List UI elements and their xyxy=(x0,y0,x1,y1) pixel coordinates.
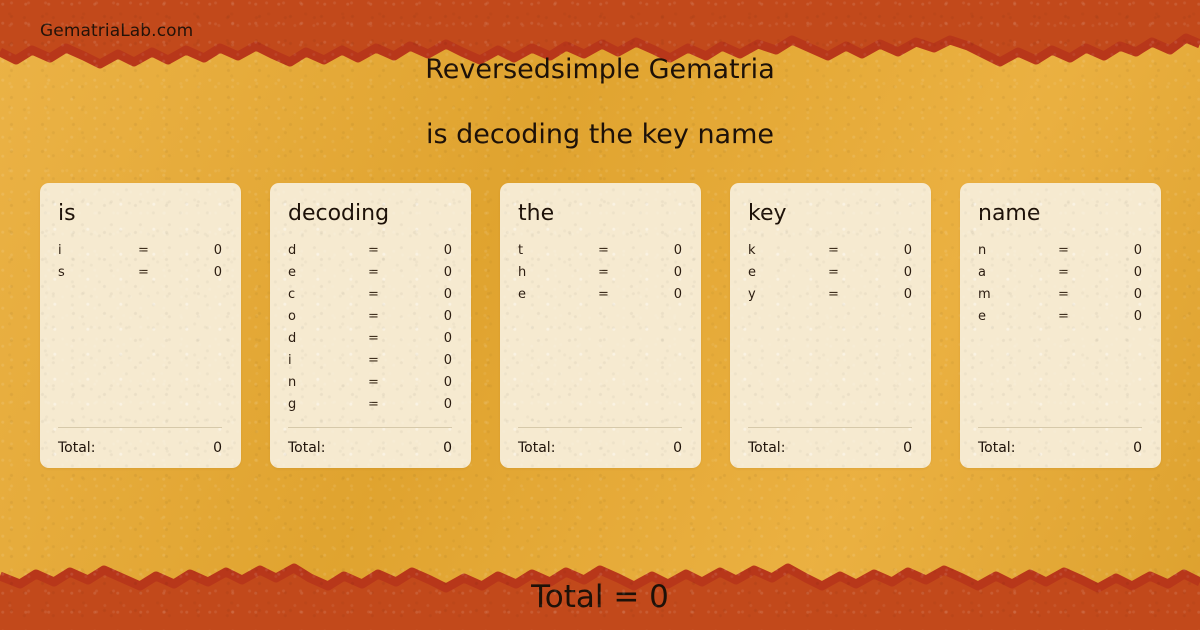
letter-value-list: t=0h=0e=0 xyxy=(518,243,682,427)
letter-value: 0 xyxy=(412,375,452,390)
letter-row: e=0 xyxy=(518,287,682,309)
letter-char: o xyxy=(288,309,368,324)
card-total-value: 0 xyxy=(1133,440,1142,456)
card-total-row: Total:0 xyxy=(58,428,222,468)
letter-row: k=0 xyxy=(748,243,912,265)
letter-row: a=0 xyxy=(978,265,1142,287)
letter-value: 0 xyxy=(1102,309,1142,324)
letter-row: e=0 xyxy=(748,265,912,287)
letter-row: d=0 xyxy=(288,331,452,353)
letter-char: i xyxy=(288,353,368,368)
word-card: isi=0s=0Total:0 xyxy=(40,183,241,468)
letter-char: g xyxy=(288,397,368,412)
letter-row: t=0 xyxy=(518,243,682,265)
letter-value: 0 xyxy=(642,265,682,280)
letter-value: 0 xyxy=(642,287,682,302)
letter-row: m=0 xyxy=(978,287,1142,309)
letter-value: 0 xyxy=(1102,243,1142,258)
equals-sign: = xyxy=(828,287,872,302)
equals-sign: = xyxy=(368,265,412,280)
letter-row: c=0 xyxy=(288,287,452,309)
equals-sign: = xyxy=(1058,243,1102,258)
equals-sign: = xyxy=(598,243,642,258)
card-total-value: 0 xyxy=(213,440,222,456)
letter-value: 0 xyxy=(1102,265,1142,280)
equals-sign: = xyxy=(598,287,642,302)
equals-sign: = xyxy=(1058,265,1102,280)
letter-value: 0 xyxy=(412,265,452,280)
letter-row: o=0 xyxy=(288,309,452,331)
letter-row: i=0 xyxy=(288,353,452,375)
letter-char: e xyxy=(748,265,828,280)
letter-char: e xyxy=(978,309,1058,324)
letter-row: s=0 xyxy=(58,265,222,287)
letter-char: d xyxy=(288,243,368,258)
letter-row: g=0 xyxy=(288,397,452,419)
word-card-title: is xyxy=(58,203,222,225)
letter-char: y xyxy=(748,287,828,302)
letter-char: n xyxy=(288,375,368,390)
letter-char: a xyxy=(978,265,1058,280)
word-card-list: isi=0s=0Total:0decodingd=0e=0c=0o=0d=0i=… xyxy=(40,183,1161,468)
word-card: namen=0a=0m=0e=0Total:0 xyxy=(960,183,1161,468)
equals-sign: = xyxy=(1058,309,1102,324)
letter-row: n=0 xyxy=(288,375,452,397)
grand-total: Total = 0 xyxy=(0,579,1200,615)
card-total-value: 0 xyxy=(673,440,682,456)
word-card-title: the xyxy=(518,203,682,225)
letter-char: h xyxy=(518,265,598,280)
letter-value: 0 xyxy=(642,243,682,258)
header-block: Reversedsimple Gematria is decoding the … xyxy=(0,56,1200,148)
equals-sign: = xyxy=(368,309,412,324)
letter-value: 0 xyxy=(412,397,452,412)
letter-char: d xyxy=(288,331,368,346)
letter-char: m xyxy=(978,287,1058,302)
word-card: decodingd=0e=0c=0o=0d=0i=0n=0g=0Total:0 xyxy=(270,183,471,468)
letter-value: 0 xyxy=(872,265,912,280)
letter-value: 0 xyxy=(412,243,452,258)
word-card-title: name xyxy=(978,203,1142,225)
letter-row: d=0 xyxy=(288,243,452,265)
equals-sign: = xyxy=(828,265,872,280)
page-title: Reversedsimple Gematria xyxy=(0,56,1200,83)
letter-char: i xyxy=(58,243,138,258)
equals-sign: = xyxy=(138,243,182,258)
page-subtitle: is decoding the key name xyxy=(0,121,1200,148)
card-total-value: 0 xyxy=(903,440,912,456)
letter-char: e xyxy=(288,265,368,280)
word-card: keyk=0e=0y=0Total:0 xyxy=(730,183,931,468)
letter-char: c xyxy=(288,287,368,302)
letter-row: n=0 xyxy=(978,243,1142,265)
equals-sign: = xyxy=(368,331,412,346)
letter-value: 0 xyxy=(1102,287,1142,302)
card-total-label: Total: xyxy=(748,440,903,456)
equals-sign: = xyxy=(828,243,872,258)
letter-value-list: d=0e=0c=0o=0d=0i=0n=0g=0 xyxy=(288,243,452,427)
letter-value: 0 xyxy=(872,287,912,302)
letter-char: k xyxy=(748,243,828,258)
letter-row: e=0 xyxy=(978,309,1142,331)
card-total-value: 0 xyxy=(443,440,452,456)
card-total-label: Total: xyxy=(58,440,213,456)
equals-sign: = xyxy=(368,353,412,368)
equals-sign: = xyxy=(368,243,412,258)
letter-value: 0 xyxy=(412,309,452,324)
equals-sign: = xyxy=(368,397,412,412)
word-card: thet=0h=0e=0Total:0 xyxy=(500,183,701,468)
card-total-label: Total: xyxy=(978,440,1133,456)
word-card-title: decoding xyxy=(288,203,452,225)
card-total-row: Total:0 xyxy=(748,428,912,468)
letter-row: h=0 xyxy=(518,265,682,287)
letter-value-list: n=0a=0m=0e=0 xyxy=(978,243,1142,427)
site-name[interactable]: GematriaLab.com xyxy=(40,21,193,41)
equals-sign: = xyxy=(1058,287,1102,302)
letter-value: 0 xyxy=(412,331,452,346)
letter-value-list: k=0e=0y=0 xyxy=(748,243,912,427)
equals-sign: = xyxy=(138,265,182,280)
letter-char: s xyxy=(58,265,138,280)
equals-sign: = xyxy=(368,375,412,390)
card-total-label: Total: xyxy=(518,440,673,456)
letter-value: 0 xyxy=(182,265,222,280)
letter-char: e xyxy=(518,287,598,302)
card-total-row: Total:0 xyxy=(288,428,452,468)
card-total-row: Total:0 xyxy=(978,428,1142,468)
equals-sign: = xyxy=(368,287,412,302)
letter-row: e=0 xyxy=(288,265,452,287)
letter-row: i=0 xyxy=(58,243,222,265)
letter-value-list: i=0s=0 xyxy=(58,243,222,427)
letter-value: 0 xyxy=(412,287,452,302)
letter-value: 0 xyxy=(182,243,222,258)
card-total-row: Total:0 xyxy=(518,428,682,468)
equals-sign: = xyxy=(598,265,642,280)
letter-char: t xyxy=(518,243,598,258)
card-total-label: Total: xyxy=(288,440,443,456)
letter-value: 0 xyxy=(412,353,452,368)
word-card-title: key xyxy=(748,203,912,225)
letter-row: y=0 xyxy=(748,287,912,309)
letter-value: 0 xyxy=(872,243,912,258)
letter-char: n xyxy=(978,243,1058,258)
